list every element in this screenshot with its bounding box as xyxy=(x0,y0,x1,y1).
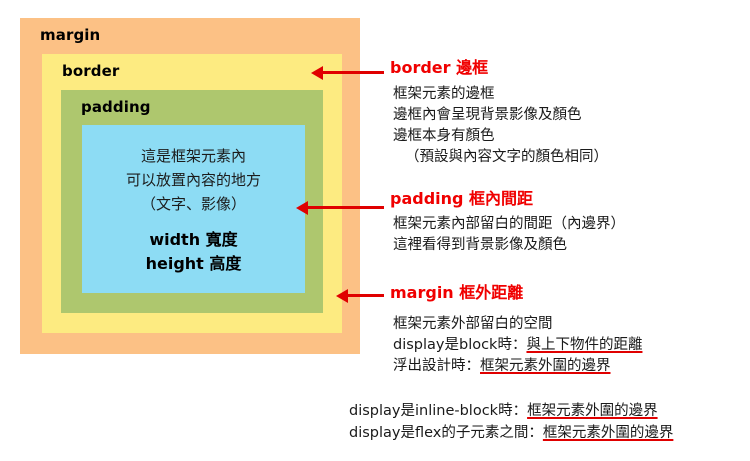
content-height-label: height 高度 xyxy=(82,252,305,276)
content-width-label: width 寬度 xyxy=(82,228,305,252)
content-box: 這是框架元素內 可以放置內容的地方 （文字、影像） width 寬度 heigh… xyxy=(82,125,305,293)
padding-box-label: padding xyxy=(81,98,151,116)
display-mode-note-flex-emphasis: 框架元素外圍的邊界 xyxy=(543,425,674,441)
padding-box: padding 這是框架元素內 可以放置內容的地方 （文字、影像） width … xyxy=(61,90,323,313)
margin-box-label: margin xyxy=(40,26,100,44)
content-box-text: 這是框架元素內 可以放置內容的地方 （文字、影像） width 寬度 heigh… xyxy=(82,144,305,276)
margin-annotation-line-2: display是block時：與上下物件的距離 xyxy=(393,335,748,356)
border-callout-arrow-icon xyxy=(322,71,384,74)
margin-box: margin border padding 這是框架元素內 可以放置內容的地方 … xyxy=(20,18,360,354)
padding-annotation-line-1: 框架元素內部留白的間距（內邊界） xyxy=(393,214,748,235)
display-mode-notes: display是inline-block時：框架元素外圍的邊界 display是… xyxy=(349,400,749,444)
display-mode-note-inline-block: display是inline-block時：框架元素外圍的邊界 xyxy=(349,400,749,422)
box-model-diagram-canvas: margin border padding 這是框架元素內 可以放置內容的地方 … xyxy=(0,0,750,461)
padding-annotation-body: 框架元素內部留白的間距（內邊界） 這裡看得到背景影像及顏色 xyxy=(390,214,748,256)
border-annotation-line-4: （預設與內容文字的顏色相同） xyxy=(393,147,748,168)
content-line-1: 這是框架元素內 xyxy=(82,144,305,168)
content-line-3: （文字、影像） xyxy=(82,192,305,216)
padding-annotation: padding 框內間距 框架元素內部留白的間距（內邊界） 這裡看得到背景影像及… xyxy=(390,189,748,256)
border-box: border padding 這是框架元素內 可以放置內容的地方 （文字、影像）… xyxy=(42,54,342,333)
margin-annotation-heading: margin 框外距離 xyxy=(390,283,748,303)
display-mode-note-inline-block-prefix: display是inline-block時： xyxy=(349,403,527,419)
padding-annotation-line-2: 這裡看得到背景影像及顏色 xyxy=(393,235,748,256)
margin-annotation-line-2-emphasis: 與上下物件的距離 xyxy=(526,337,642,353)
margin-annotation-body: 框架元素外部留白的空間 display是block時：與上下物件的距離 浮出設計… xyxy=(390,314,748,377)
margin-annotation-line-3-emphasis: 框架元素外圍的邊界 xyxy=(480,358,611,374)
display-mode-note-flex: display是flex的子元素之間：框架元素外圍的邊界 xyxy=(349,422,749,444)
padding-callout-arrow-icon xyxy=(307,206,384,209)
margin-annotation-line-2-prefix: display是block時： xyxy=(393,337,526,353)
padding-annotation-heading: padding 框內間距 xyxy=(390,189,748,209)
border-annotation: border 邊框 框架元素的邊框 邊框內會呈現背景影像及顏色 邊框本身有顏色 … xyxy=(390,58,748,168)
margin-callout-arrow-icon xyxy=(347,294,384,297)
margin-annotation-line-1: 框架元素外部留白的空間 xyxy=(393,314,748,335)
border-annotation-heading: border 邊框 xyxy=(390,58,748,78)
margin-annotation-line-3: 浮出設計時：框架元素外圍的邊界 xyxy=(393,356,748,377)
content-line-2: 可以放置內容的地方 xyxy=(82,168,305,192)
display-mode-note-flex-prefix: display是flex的子元素之間： xyxy=(349,425,543,441)
display-mode-note-inline-block-emphasis: 框架元素外圍的邊界 xyxy=(527,403,658,419)
margin-annotation-line-3-prefix: 浮出設計時： xyxy=(393,358,480,374)
border-annotation-body: 框架元素的邊框 邊框內會呈現背景影像及顏色 邊框本身有顏色 （預設與內容文字的顏… xyxy=(390,84,748,168)
margin-annotation: margin 框外距離 框架元素外部留白的空間 display是block時：與… xyxy=(390,283,748,377)
border-annotation-line-1: 框架元素的邊框 xyxy=(393,84,748,105)
border-box-label: border xyxy=(62,62,119,80)
border-annotation-line-3: 邊框本身有顏色 xyxy=(393,126,748,147)
border-annotation-line-2: 邊框內會呈現背景影像及顏色 xyxy=(393,105,748,126)
